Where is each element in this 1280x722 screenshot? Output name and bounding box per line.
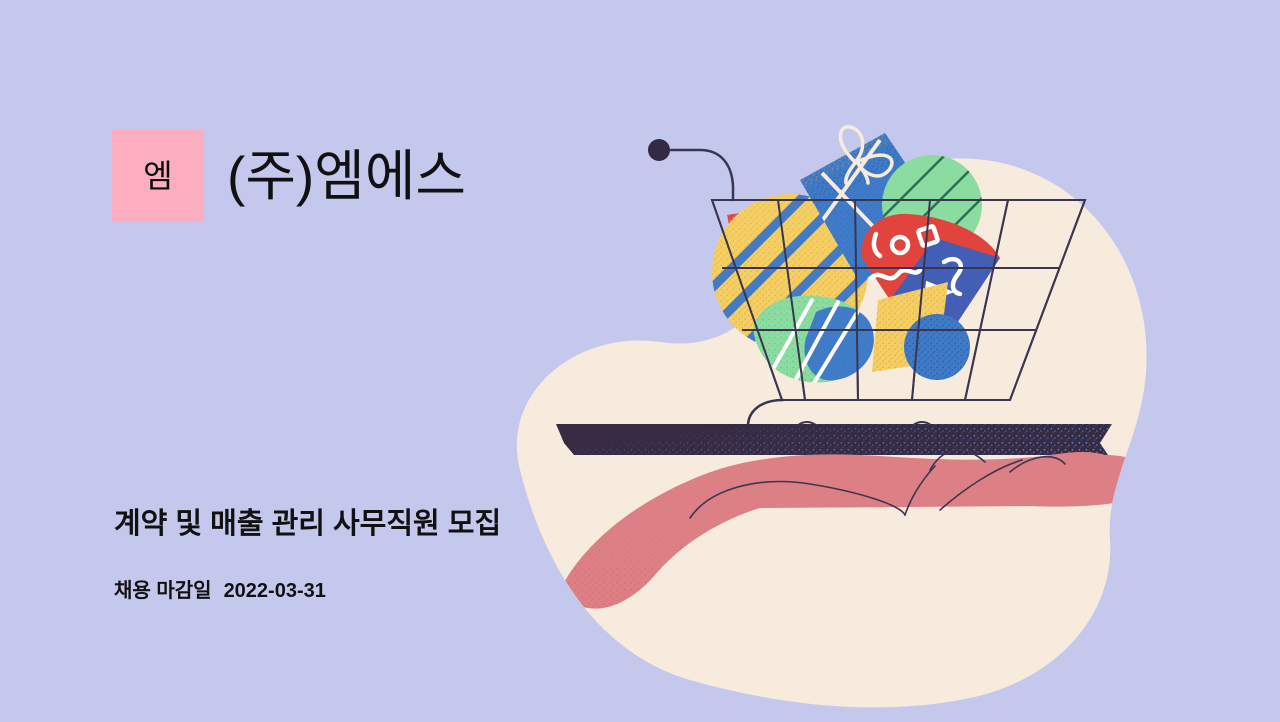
job-posting-poster: 엠 (주)엠에스 계약 및 매출 관리 사무직원 모집 채용 마감일 2022-… xyxy=(0,0,1280,722)
deadline-label: 채용 마감일 xyxy=(114,574,212,603)
shopping-cart-illustration xyxy=(0,0,1280,722)
company-name: (주)엠에스 xyxy=(227,149,466,204)
deadline-row: 채용 마감일 2022-03-31 xyxy=(114,574,326,603)
dark-shelf-bar xyxy=(556,420,1116,460)
job-title: 계약 및 매출 관리 사무직원 모집 xyxy=(114,506,501,542)
company-initial-badge-label: 엠 xyxy=(143,160,172,192)
cart-handle-dot xyxy=(648,139,670,161)
brand-row: 엠 (주)엠에스 xyxy=(112,130,466,222)
deadline-date: 2022-03-31 xyxy=(224,580,326,603)
company-initial-badge: 엠 xyxy=(112,130,204,222)
